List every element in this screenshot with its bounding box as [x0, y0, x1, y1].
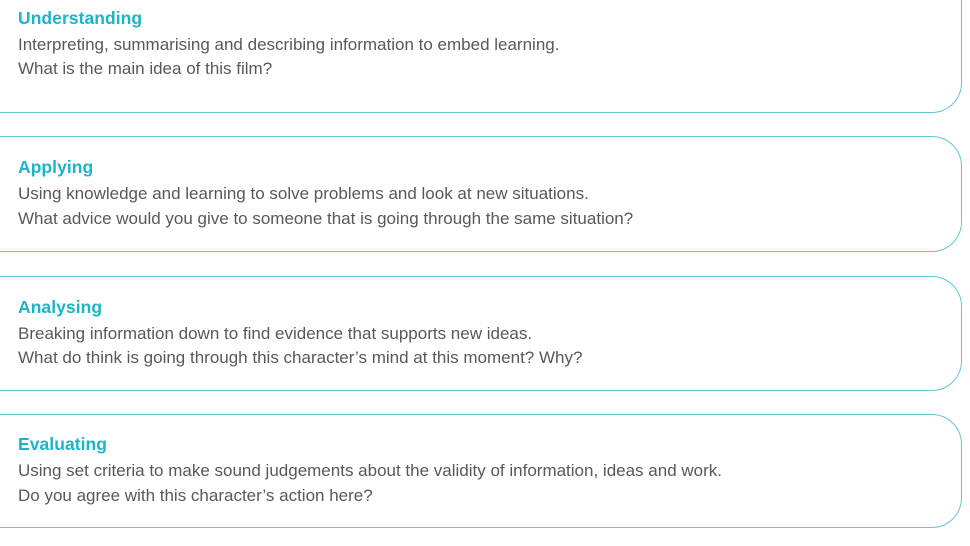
taxonomy-card-applying: Applying Using knowledge and learning to… [0, 136, 962, 252]
card-question: What is the main idea of this film? [18, 57, 921, 82]
taxonomy-card-analysing: Analysing Breaking information down to f… [0, 276, 962, 391]
card-content: Evaluating Using set criteria to make so… [0, 415, 961, 527]
card-content: Understanding Interpreting, summarising … [0, 0, 961, 112]
card-description: Using set criteria to make sound judgeme… [18, 459, 921, 484]
taxonomy-card-evaluating: Evaluating Using set criteria to make so… [0, 414, 962, 528]
card-content: Applying Using knowledge and learning to… [0, 137, 961, 251]
card-heading: Understanding [18, 7, 921, 31]
taxonomy-card-list: Understanding Interpreting, summarising … [0, 0, 970, 546]
card-description: Using knowledge and learning to solve pr… [18, 182, 921, 207]
card-question: What advice would you give to someone th… [18, 207, 921, 232]
card-heading: Applying [18, 156, 921, 180]
card-description: Interpreting, summarising and describing… [18, 33, 921, 58]
taxonomy-card-understanding: Understanding Interpreting, summarising … [0, 0, 962, 113]
card-question: What do think is going through this char… [18, 346, 921, 371]
card-heading: Analysing [18, 296, 921, 320]
card-description: Breaking information down to find eviden… [18, 322, 921, 347]
card-content: Analysing Breaking information down to f… [0, 277, 961, 390]
card-heading: Evaluating [18, 433, 921, 457]
card-question: Do you agree with this character’s actio… [18, 484, 921, 509]
